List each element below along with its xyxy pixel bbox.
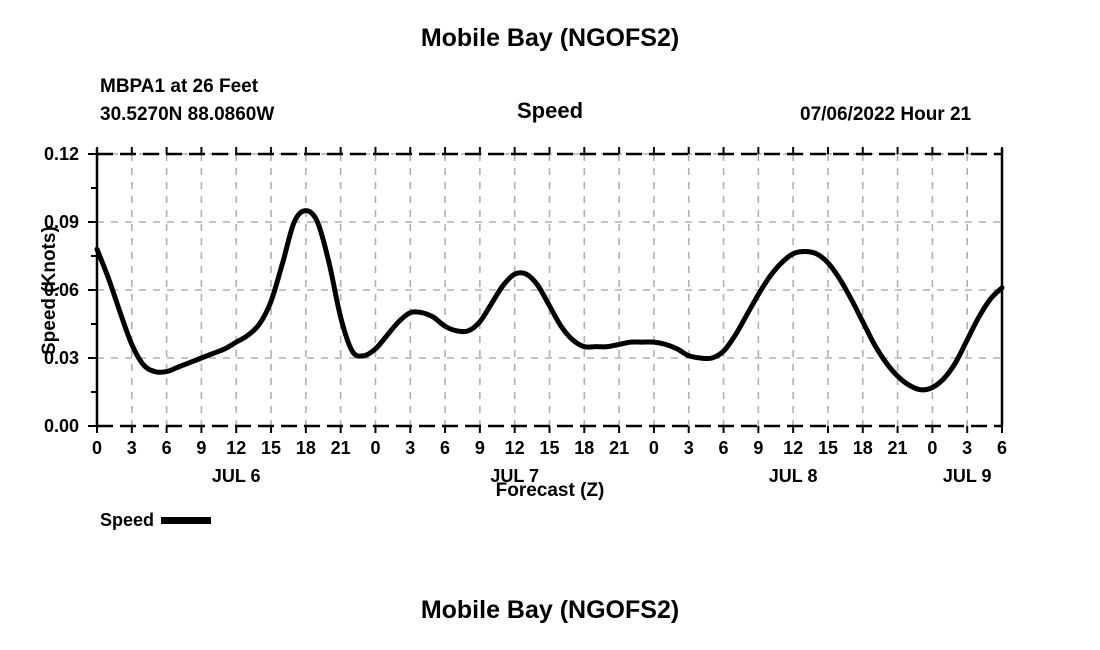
x-tick-label: 18	[296, 439, 316, 457]
y-tick-label: 0.06	[19, 281, 79, 299]
x-tick-label: 15	[818, 439, 838, 457]
chart-figure: Mobile Bay (NGOFS2) MBPA1 at 26 Feet 30.…	[0, 0, 1100, 650]
x-tick-label: 12	[226, 439, 246, 457]
x-tick-label: 21	[609, 439, 629, 457]
chart-legend: Speed	[100, 510, 211, 531]
plot-svg	[0, 0, 1100, 650]
x-tick-label: 3	[405, 439, 415, 457]
x-tick-label: 9	[475, 439, 485, 457]
x-axis-day-label: JUL 8	[769, 467, 818, 485]
x-tick-label: 6	[162, 439, 172, 457]
chart-title-bottom: Mobile Bay (NGOFS2)	[0, 598, 1100, 623]
x-tick-label: 15	[539, 439, 559, 457]
x-tick-label: 0	[649, 439, 659, 457]
y-tick-label: 0.09	[19, 213, 79, 231]
x-tick-label: 3	[684, 439, 694, 457]
x-tick-label: 9	[196, 439, 206, 457]
x-axis-day-label: JUL 6	[212, 467, 261, 485]
x-tick-label: 21	[888, 439, 908, 457]
x-tick-label: 6	[997, 439, 1007, 457]
x-tick-label: 12	[783, 439, 803, 457]
x-tick-label: 9	[753, 439, 763, 457]
x-tick-label: 0	[927, 439, 937, 457]
y-tick-label: 0.03	[19, 349, 79, 367]
x-tick-label: 3	[127, 439, 137, 457]
x-tick-label: 18	[574, 439, 594, 457]
x-tick-label: 6	[440, 439, 450, 457]
x-axis-day-label: JUL 9	[943, 467, 992, 485]
legend-swatch-speed	[161, 517, 211, 524]
x-tick-label: 18	[853, 439, 873, 457]
x-tick-label: 3	[962, 439, 972, 457]
x-tick-label: 12	[505, 439, 525, 457]
x-tick-label: 21	[331, 439, 351, 457]
x-tick-label: 6	[719, 439, 729, 457]
y-tick-label: 0.00	[19, 417, 79, 435]
legend-label-speed: Speed	[100, 510, 154, 531]
x-tick-label: 0	[370, 439, 380, 457]
x-axis-day-label: JUL 7	[490, 467, 539, 485]
y-tick-label: 0.12	[19, 145, 79, 163]
x-tick-label: 0	[92, 439, 102, 457]
x-tick-label: 15	[261, 439, 281, 457]
